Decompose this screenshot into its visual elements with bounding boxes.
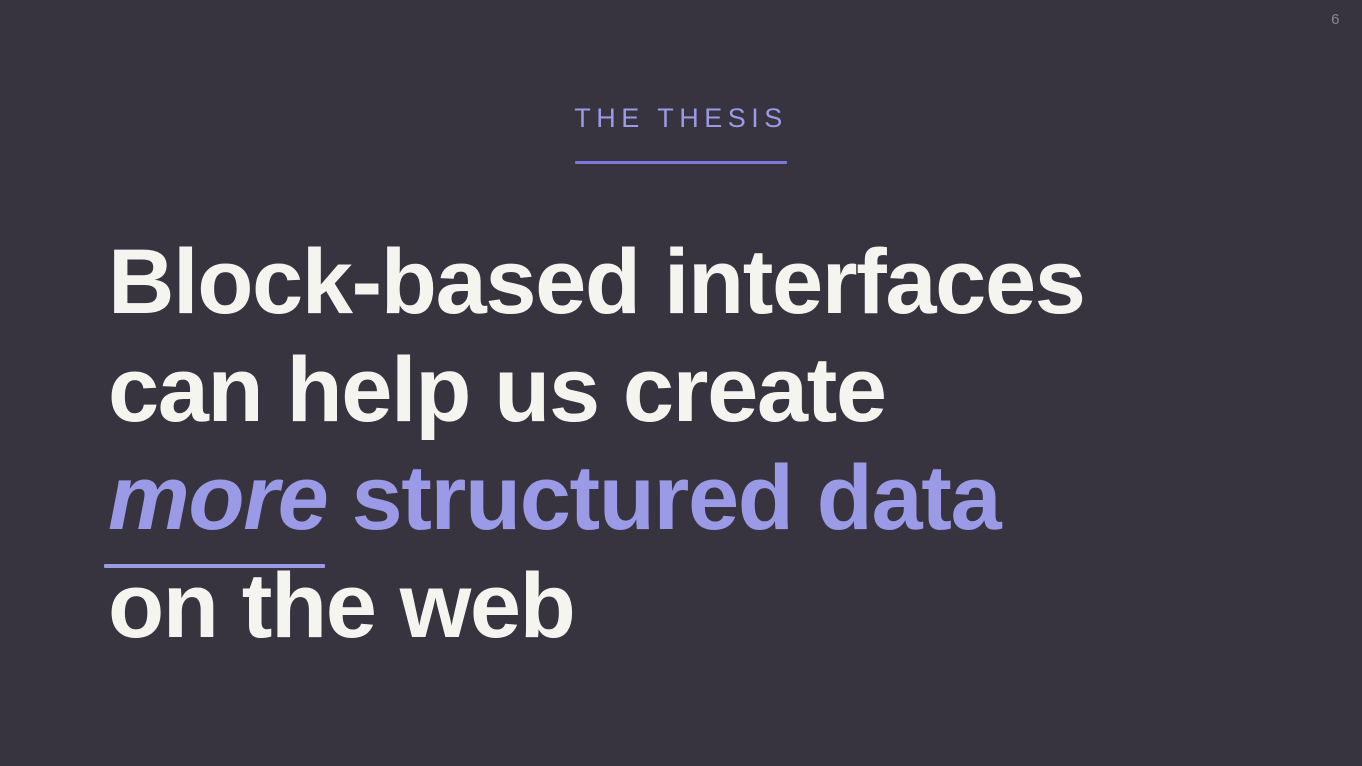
eyebrow-block: THE THESIS bbox=[0, 104, 1362, 164]
headline-line-3: more structured data bbox=[108, 444, 1288, 552]
headline-accent-structured-data: structured data bbox=[327, 447, 1000, 549]
eyebrow-divider-rule bbox=[575, 161, 787, 164]
page-number: 6 bbox=[1331, 12, 1340, 27]
headline-line-2: can help us create bbox=[108, 336, 1288, 444]
headline-emphasis-more: more bbox=[108, 444, 327, 552]
headline: Block-based interfaces can help us creat… bbox=[108, 228, 1288, 660]
headline-line-1: Block-based interfaces bbox=[108, 228, 1288, 336]
headline-line-4: on the web bbox=[108, 552, 1288, 660]
slide-canvas: 6 THE THESIS Block-based interfaces can … bbox=[0, 0, 1362, 766]
eyebrow-label: THE THESIS bbox=[574, 104, 788, 134]
